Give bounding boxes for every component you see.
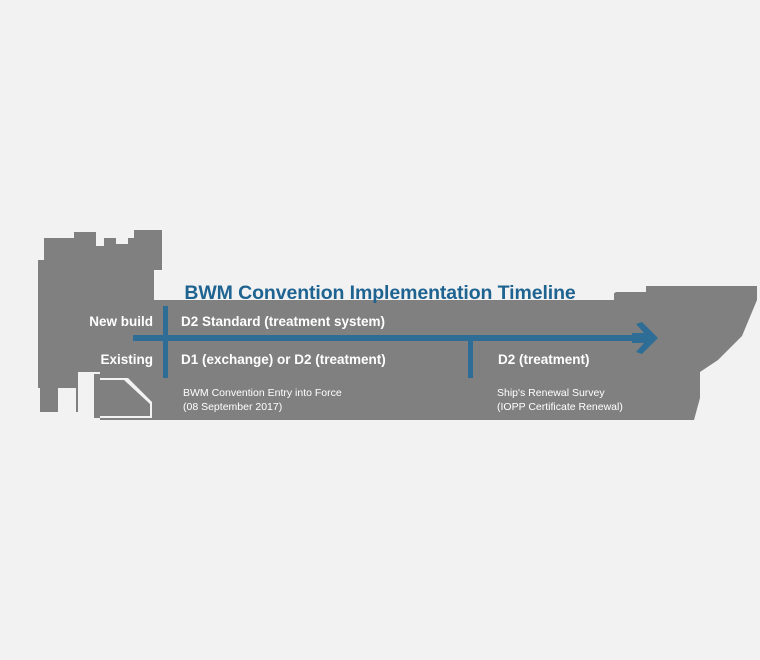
row-value-existing-after-renewal: D2 (treatment) <box>498 352 590 367</box>
row-value-existing: D1 (exchange) or D2 (treatment) <box>181 352 386 367</box>
tick-entry-into-force <box>163 306 168 378</box>
row-label-new-build: New build <box>58 314 153 329</box>
caption-renewal-line1: Ship's Renewal Survey <box>497 386 623 400</box>
page-title: BWM Convention Implementation Timeline <box>0 282 760 305</box>
timeline-axis <box>133 335 648 341</box>
caption-entry-into-force: BWM Convention Entry into Force (08 Sept… <box>183 386 342 414</box>
caption-entry-line1: BWM Convention Entry into Force <box>183 386 342 400</box>
row-label-existing: Existing <box>58 352 153 367</box>
caption-renewal-survey: Ship's Renewal Survey (IOPP Certificate … <box>497 386 623 414</box>
timeline-overlay: BWM Convention Implementation Timeline N… <box>0 0 760 660</box>
caption-renewal-line2: (IOPP Certificate Renewal) <box>497 400 623 414</box>
diagram-canvas: BWM Convention Implementation Timeline N… <box>0 0 760 660</box>
tick-renewal-survey <box>468 338 473 378</box>
caption-entry-line2: (08 September 2017) <box>183 400 342 414</box>
arrow-right-icon <box>630 321 660 355</box>
row-value-new-build: D2 Standard (treatment system) <box>181 314 385 329</box>
